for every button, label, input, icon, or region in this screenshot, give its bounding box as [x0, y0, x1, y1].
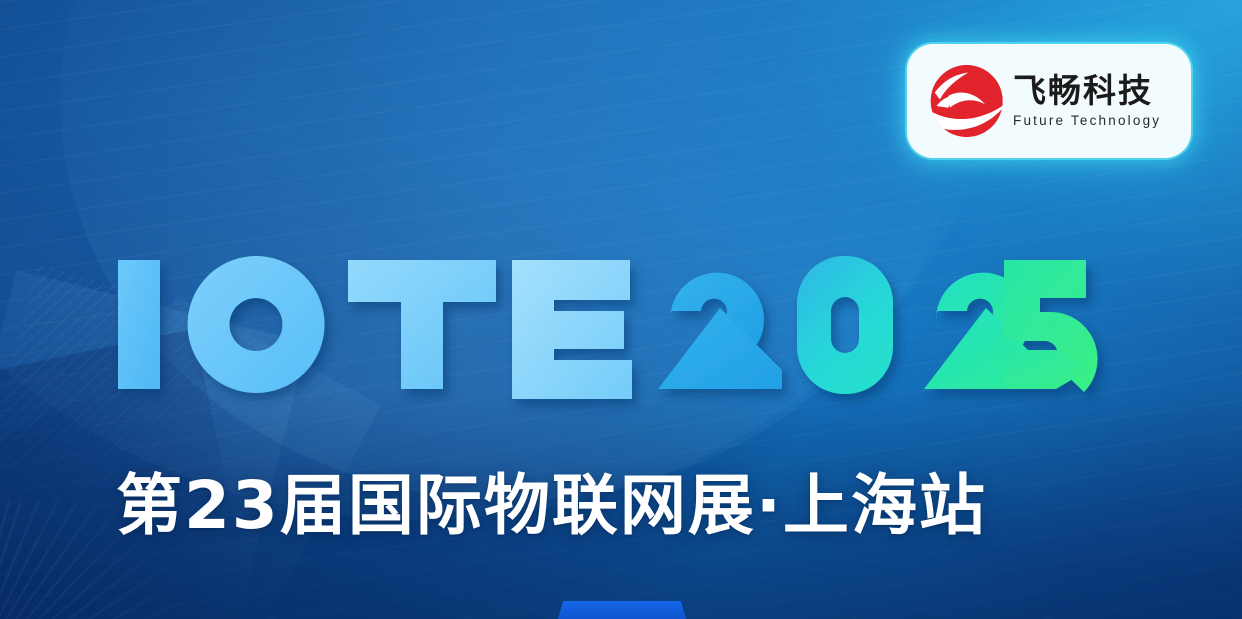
company-name-cn: 飞畅科技	[1013, 74, 1161, 107]
company-name-en: Future Technology	[1013, 114, 1161, 128]
background-sphere-arc	[60, 0, 960, 500]
iote-2025-banner: 飞畅科技 Future Technology	[0, 0, 1242, 619]
feichang-red-circle-logo-icon	[923, 59, 1007, 143]
bottom-center-accent-bar	[558, 601, 686, 619]
banner-subtitle: 第23届国际物联网展·上海站	[116, 452, 987, 548]
company-logo-card[interactable]: 飞畅科技 Future Technology	[907, 44, 1191, 158]
company-logo-text: 飞畅科技 Future Technology	[1013, 74, 1161, 128]
iote-2025-wordmark	[118, 252, 1088, 397]
